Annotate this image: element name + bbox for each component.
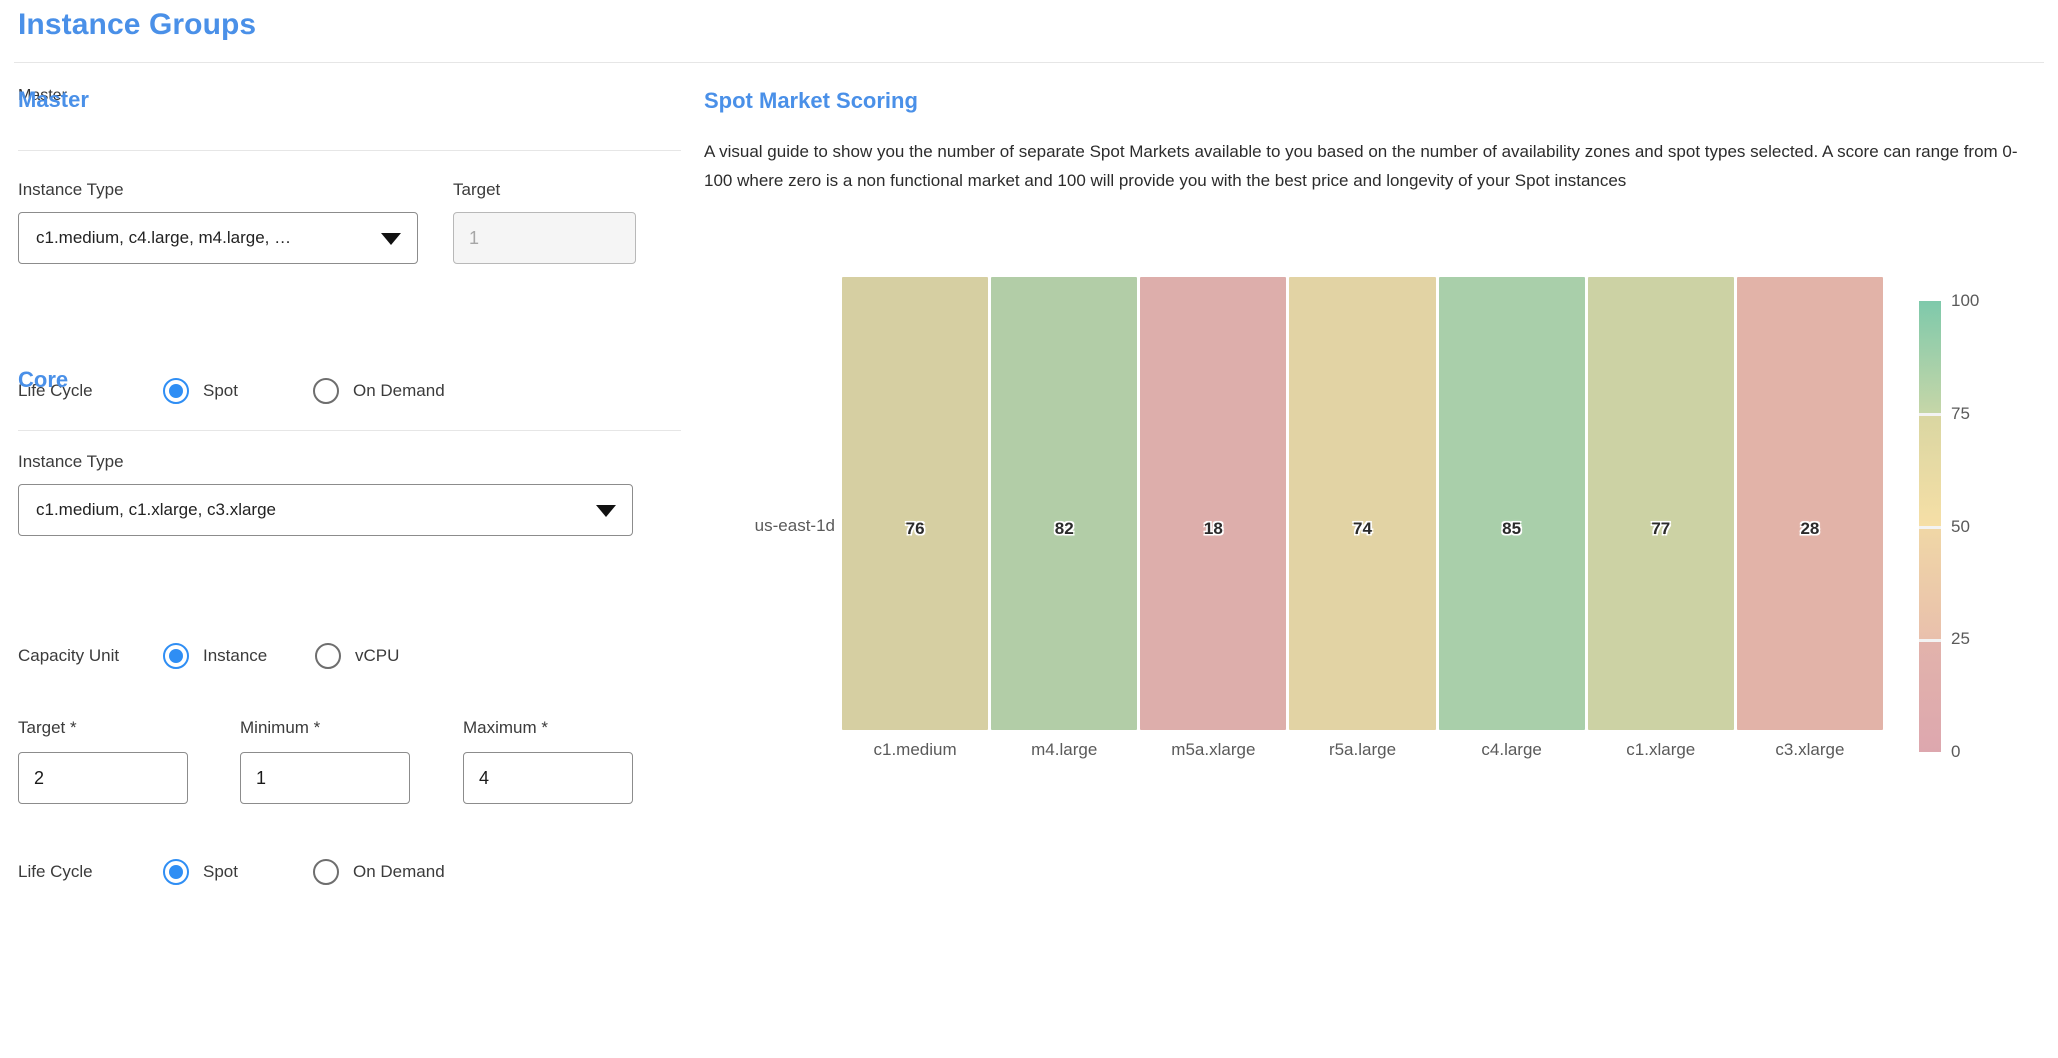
heatmap-x-tick-label: r5a.large (1289, 740, 1435, 760)
core-instance-type-value: c1.medium, c1.xlarge, c3.xlarge (36, 500, 276, 520)
colorbar-tick-75 (1919, 413, 1941, 416)
radio-icon-unselected[interactable] (313, 378, 339, 404)
heatmap-cell-value: 85 (1439, 519, 1585, 539)
core-target-label: Target * (18, 718, 77, 738)
core-capacity-unit-vcpu-label: vCPU (355, 646, 399, 666)
heatmap-colorbar: 1007550250 (1919, 301, 2049, 761)
core-life-cycle-spot-option[interactable]: Spot (163, 859, 313, 885)
master-life-cycle-spot-label: Spot (203, 381, 238, 401)
core-capacity-unit-instance-option[interactable]: Instance (163, 643, 315, 669)
core-life-cycle-group: Life Cycle Spot On Demand (18, 859, 445, 885)
page-title: Instance Groups (18, 8, 256, 42)
core-capacity-unit-instance-label: Instance (203, 646, 267, 666)
core-minimum-input[interactable]: 1 (240, 752, 410, 804)
master-instance-type-value: c1.medium, c4.large, m4.large, … (36, 228, 291, 248)
chevron-down-icon[interactable] (596, 505, 616, 517)
core-minimum-label: Minimum * (240, 718, 320, 738)
heatmap-x-tick-label: m5a.xlarge (1140, 740, 1286, 760)
core-life-cycle-label: Life Cycle (18, 862, 163, 882)
radio-icon-unselected[interactable] (313, 859, 339, 885)
master-target-label: Target (453, 180, 500, 200)
master-instance-type-select[interactable]: c1.medium, c4.large, m4.large, … (18, 212, 418, 264)
chevron-down-icon[interactable] (381, 233, 401, 245)
heatmap-cell-value: 77 (1588, 519, 1734, 539)
heatmap-cell-value: 82 (991, 519, 1137, 539)
core-instance-type-select[interactable]: c1.medium, c1.xlarge, c3.xlarge (18, 484, 633, 536)
master-life-cycle-ondemand-label: On Demand (353, 381, 445, 401)
heatmap-cell[interactable]: 28 (1737, 277, 1883, 730)
master-life-cycle-spot-option[interactable]: Spot (163, 378, 313, 404)
core-capacity-unit-group: Capacity Unit Instance vCPU (18, 643, 399, 669)
colorbar-tick-label: 100 (1951, 291, 1979, 311)
instance-groups-form: Master Master Instance Type c1.medium, c… (0, 70, 690, 1058)
master-divider (18, 150, 681, 151)
core-divider (18, 430, 681, 431)
colorbar-tick-25 (1919, 639, 1941, 642)
core-target-input[interactable]: 2 (18, 752, 188, 804)
core-capacity-unit-vcpu-option[interactable]: vCPU (315, 643, 399, 669)
spot-market-scoring-panel: Spot Market Scoring A visual guide to sh… (700, 70, 2058, 1058)
core-life-cycle-spot-label: Spot (203, 862, 238, 882)
core-target-value: 2 (34, 768, 44, 789)
core-instance-type-label: Instance Type (18, 452, 124, 472)
heatmap-cell[interactable]: 77 (1588, 277, 1734, 730)
master-target-input[interactable]: 1 (453, 212, 636, 264)
title-divider (14, 62, 2044, 63)
heatmap-cells: 76821874857728 (842, 277, 1883, 730)
heatmap-cell-value: 74 (1289, 519, 1435, 539)
heatmap-cell[interactable]: 85 (1439, 277, 1585, 730)
heatmap-cell-value: 18 (1140, 519, 1286, 539)
heatmap-x-tick-label: m4.large (991, 740, 1137, 760)
spot-market-scoring-heading: Spot Market Scoring (704, 88, 918, 114)
master-heading: Master (18, 87, 89, 113)
colorbar-tick-label: 0 (1951, 742, 1960, 762)
heatmap-y-axis-label: us-east-1d (700, 516, 835, 536)
radio-icon-selected[interactable] (163, 643, 189, 669)
heatmap-x-tick-label: c1.medium (842, 740, 988, 760)
radio-icon-unselected[interactable] (315, 643, 341, 669)
heatmap-cell[interactable]: 74 (1289, 277, 1435, 730)
heatmap-cell[interactable]: 76 (842, 277, 988, 730)
radio-icon-selected[interactable] (163, 378, 189, 404)
core-minimum-value: 1 (256, 768, 266, 789)
core-maximum-label: Maximum * (463, 718, 548, 738)
heatmap-x-tick-label: c4.large (1439, 740, 1585, 760)
colorbar-tick-label: 75 (1951, 404, 1970, 424)
master-instance-type-label: Instance Type (18, 180, 124, 200)
heatmap-cell-value: 76 (842, 519, 988, 539)
instance-groups-page: Instance Groups Master Master Instance T… (0, 0, 2058, 1058)
heatmap-x-tick-label: c3.xlarge (1737, 740, 1883, 760)
radio-icon-selected[interactable] (163, 859, 189, 885)
heatmap-cell[interactable]: 82 (991, 277, 1137, 730)
core-life-cycle-ondemand-label: On Demand (353, 862, 445, 882)
spot-market-scoring-description: A visual guide to show you the number of… (704, 137, 2044, 195)
master-target-placeholder: 1 (469, 228, 479, 249)
core-maximum-input[interactable]: 4 (463, 752, 633, 804)
colorbar-tick-50 (1919, 526, 1941, 529)
heatmap-cell-value: 28 (1737, 519, 1883, 539)
core-life-cycle-ondemand-option[interactable]: On Demand (313, 859, 445, 885)
master-life-cycle-ondemand-option[interactable]: On Demand (313, 378, 445, 404)
colorbar-tick-label: 25 (1951, 629, 1970, 649)
heatmap-x-axis: c1.mediumm4.largem5a.xlarger5a.largec4.l… (842, 740, 1883, 760)
core-maximum-value: 4 (479, 768, 489, 789)
core-capacity-unit-label: Capacity Unit (18, 646, 163, 666)
heatmap-cell[interactable]: 18 (1140, 277, 1286, 730)
master-life-cycle-group: Life Cycle Spot On Demand (18, 378, 445, 404)
spot-market-heatmap: us-east-1d 76821874857728 c1.mediumm4.la… (700, 210, 2058, 720)
colorbar-tick-label: 50 (1951, 517, 1970, 537)
heatmap-x-tick-label: c1.xlarge (1588, 740, 1734, 760)
core-heading: Core (18, 367, 68, 393)
